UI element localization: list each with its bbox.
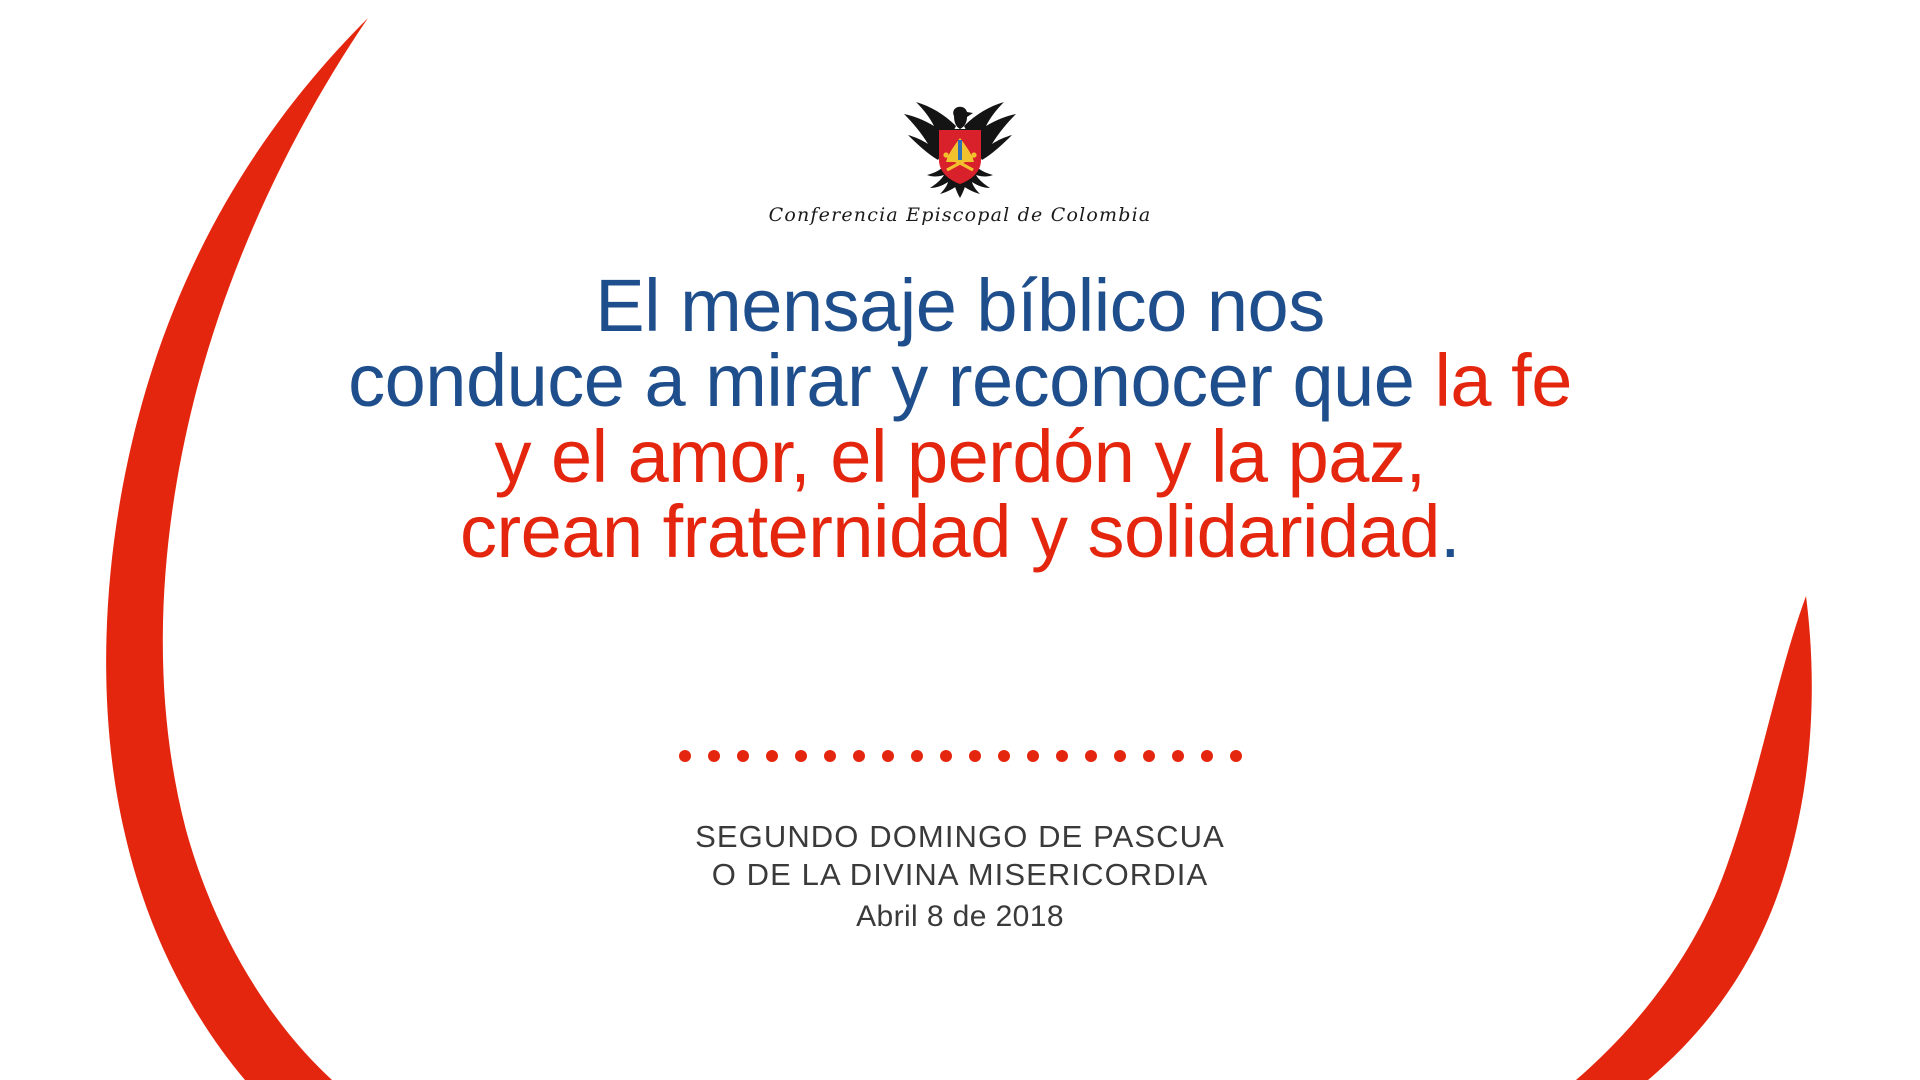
- quote-line-2: conduce a mirar y reconocer que la fe: [0, 343, 1920, 418]
- separator-dot: [708, 750, 720, 762]
- occasion-line-2: O DE LA DIVINA MISERICORDIA: [0, 856, 1920, 894]
- separator-dot: [1230, 750, 1242, 762]
- quote-line-1: El mensaje bíblico nos: [0, 268, 1920, 343]
- quote-line-2-seg-1: conduce a mirar y reconocer que: [348, 339, 1434, 422]
- separator-dot: [911, 750, 923, 762]
- occasion-line-1: SEGUNDO DOMINGO DE PASCUA: [0, 818, 1920, 856]
- quote-line-3: y el amor, el perdón y la paz,: [0, 419, 1920, 494]
- separator-dot: [766, 750, 778, 762]
- quote-line-3-seg-1: y el amor, el perdón y la paz,: [494, 415, 1425, 498]
- separator-dot: [1201, 750, 1213, 762]
- separator-dot: [882, 750, 894, 762]
- separator-dot: [940, 750, 952, 762]
- separator-dot: [824, 750, 836, 762]
- quote-line-2-seg-2: la fe: [1434, 339, 1571, 422]
- event-caption: SEGUNDO DOMINGO DE PASCUA O DE LA DIVINA…: [0, 818, 1920, 936]
- quote-line-4-seg-2: .: [1440, 490, 1460, 573]
- separator-dot: [1056, 750, 1068, 762]
- episcopal-eagle-crest-icon: [894, 96, 1026, 202]
- separator-dot: [679, 750, 691, 762]
- event-date: Abril 8 de 2018: [0, 897, 1920, 936]
- quote-text: El mensaje bíblico nos conduce a mirar y…: [0, 268, 1920, 570]
- separator-dot: [969, 750, 981, 762]
- separator-dot: [737, 750, 749, 762]
- logo-caption: Conferencia Episcopal de Colombia: [0, 204, 1920, 226]
- separator-dot: [998, 750, 1010, 762]
- separator-dot: [1172, 750, 1184, 762]
- separator-dot: [1114, 750, 1126, 762]
- separator-dot: [853, 750, 865, 762]
- quote-line-4: crean fraternidad y solidaridad.: [0, 494, 1920, 569]
- organization-logo: Conferencia Episcopal de Colombia: [0, 96, 1920, 226]
- separator-dot: [1085, 750, 1097, 762]
- slide-canvas: Conferencia Episcopal de Colombia El men…: [0, 0, 1920, 1080]
- separator-dot: [1027, 750, 1039, 762]
- separator-dot: [795, 750, 807, 762]
- dotted-rule: [0, 750, 1920, 762]
- separator-dot: [1143, 750, 1155, 762]
- quote-line-1-seg-1: El mensaje bíblico nos: [595, 264, 1324, 347]
- quote-line-4-seg-1: crean fraternidad y solidaridad: [460, 490, 1440, 573]
